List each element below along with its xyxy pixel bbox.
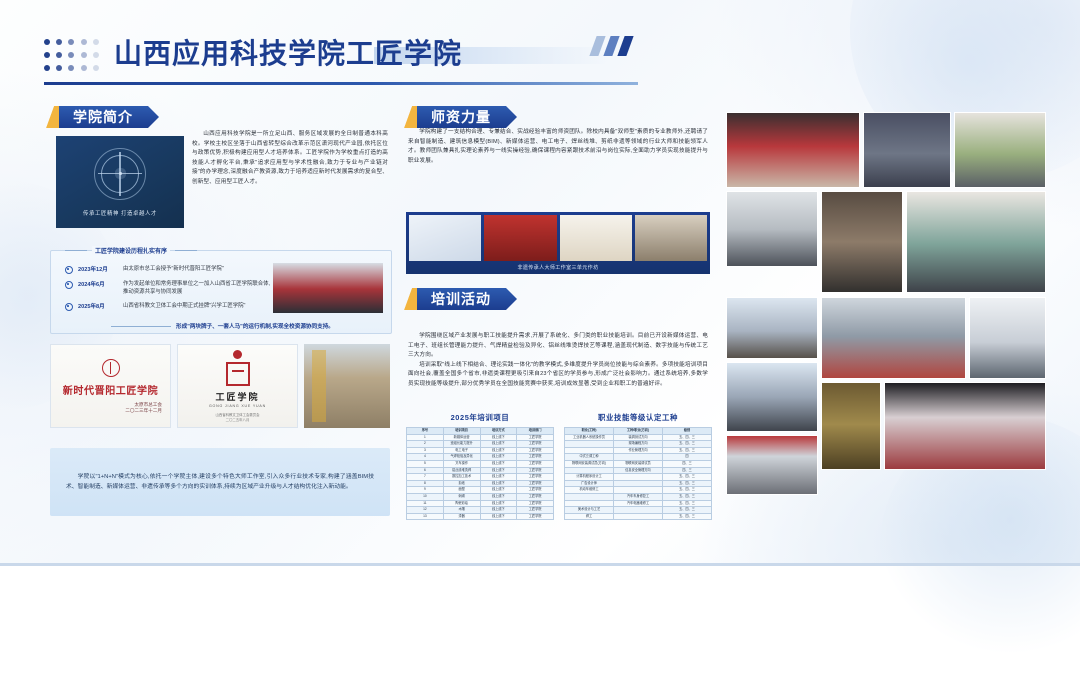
section-label-faculty: 师资力量	[431, 107, 491, 127]
table-cell: 工匠学院	[517, 513, 554, 520]
timeline-desc: 由太原市总工会授予"新时代晋阳工匠学院"	[123, 265, 275, 274]
table-cell: 五、四、三	[663, 487, 712, 494]
table-cell: 四、三	[663, 467, 712, 474]
timeline-item: 2025年8月 山西省科教文卫体工会中期正式挂牌"兴学工匠学院"	[65, 302, 275, 311]
table-row: 10刺绣线上线下工匠学院	[407, 493, 554, 500]
table-cell	[614, 513, 663, 520]
skill-grades-table: 职业(工种)工种/职业(方向)级别 工业机器人系统操作员装调测试方向五、四、三现…	[564, 427, 712, 520]
stage-papercut-performance-photo	[884, 382, 1046, 470]
table-row: 2班组长能力提升线上线下工匠学院	[407, 441, 554, 448]
timeline-dot-icon	[65, 266, 73, 274]
table-cell: 五、四、三	[663, 434, 712, 441]
table-row: 4气焊检验及异化线上线下工匠学院	[407, 454, 554, 461]
table-cell: 气焊检验及异化	[443, 454, 480, 461]
timeline-dot-icon	[65, 303, 73, 311]
timeline-desc: 山西省科教文卫体工会中期正式挂牌"兴学工匠学院"	[123, 302, 275, 311]
table-cell: 线上线下	[480, 460, 517, 467]
table-row: 焊工五、四、三	[565, 513, 712, 520]
table-cell: 新媒体运营	[443, 434, 480, 441]
dot-grid-icon	[44, 39, 102, 75]
table-cell: 线上线下	[480, 467, 517, 474]
group-red-banner-photo	[726, 112, 860, 188]
training-projects-table-wrap: 2025年培训项目 序号培训项目培训方式培训部门 1新媒体运营线上线下工匠学院2…	[406, 412, 554, 530]
table-row: 现场编程方向五、四、三	[565, 441, 712, 448]
timeline-date: 2023年12月	[78, 265, 118, 274]
timeline-date: 2024年6月	[78, 280, 118, 296]
embroidery-artwork-photo	[821, 382, 881, 470]
section-label-training: 培训活动	[431, 289, 491, 309]
faculty-strip-caption: 非遗传承人大师工作室三单元作坊	[409, 264, 707, 271]
table-cell: 五、四、三	[663, 513, 712, 520]
section-label-intro: 学院简介	[73, 107, 133, 127]
table-row: 机动车维修工五、四、三	[565, 487, 712, 494]
ceremony-group-photo	[726, 435, 818, 495]
table-cell: 工匠学院	[517, 447, 554, 454]
timeline-card: 工匠学院建设历程扎实有序 2023年12月 由太原市总工会授予"新时代晋阳工匠学…	[50, 250, 392, 334]
table-cell: 五、四、三	[663, 507, 712, 514]
table-row: 11陶瓷彩绘线上线下工匠学院	[407, 500, 554, 507]
table-cell: 5	[407, 460, 444, 467]
timeline-date: 2025年8月	[78, 302, 118, 311]
table-cell: 五、四、三	[663, 447, 712, 454]
table-cell: 线上线下	[480, 500, 517, 507]
table-row: 13漆器线上线下工匠学院	[407, 513, 554, 520]
table-row: 汽车电器维修工五、四、三	[565, 500, 712, 507]
corridor-visit-photo	[726, 191, 818, 267]
table-cell: 工匠学院	[517, 434, 554, 441]
table-cell: 工匠学院	[517, 460, 554, 467]
table-cell: 12	[407, 507, 444, 514]
plaque-date: 二〇二三年十二月	[125, 408, 162, 414]
table-cell: 9	[407, 487, 444, 494]
red-corridor-photo	[484, 215, 556, 261]
photo-mosaic	[726, 112, 1046, 530]
table-cell: 工匠学院	[517, 441, 554, 448]
slash-accent-icon	[593, 36, 639, 56]
table-cell: 五、四、三	[663, 500, 712, 507]
plaque-date: 二〇二五年八月	[215, 418, 259, 423]
model-summary-box: 学院以"1+N+N"模式为核心,依托一个学院主体,建设多个特色大师工作室,引入众…	[50, 448, 390, 516]
table-column-header: 级别	[663, 428, 712, 435]
intro-paragraph: 山西应用科技学院是一所立足山西、服务区域发展的全日制普通本科高校。学校主校区坐落…	[192, 130, 388, 188]
table-cell: 线上线下	[480, 441, 517, 448]
table-cell: 线上线下	[480, 507, 517, 514]
model-summary-text: 学院以"1+N+N"模式为核心,依托一个学院主体,建设多个特色大师工作室,引入众…	[66, 472, 374, 493]
table-cell	[614, 507, 663, 514]
display-visit-photo	[726, 362, 818, 432]
electrical-lab-photo	[969, 297, 1046, 379]
table-column-header: 工种/职业(方向)	[614, 428, 663, 435]
campus-door-photo	[304, 344, 390, 428]
page-header: 山西应用科技学院工匠学院	[44, 33, 638, 85]
furniture-showroom-photo	[906, 191, 1046, 293]
training-paragraph-1: 学院围绕区域产业发展与职工技能提升需求,开展了系统化、多门类的职业技能培训。目前…	[408, 332, 708, 361]
table-cell: 线上线下	[480, 480, 517, 487]
plaque-jinyang: 新时代晋阳工匠学院 太原市总工会 二〇二三年十二月	[50, 344, 171, 428]
college-emblem-icon	[94, 148, 146, 200]
table-row: 中式烹调工种四	[565, 454, 712, 461]
timeline-list: 2023年12月 由太原市总工会授予"新时代晋阳工匠学院" 2024年6月 作为…	[65, 265, 275, 317]
table-cell: 作业管理方向	[614, 447, 663, 454]
table-cell	[614, 454, 663, 461]
table-cell	[614, 474, 663, 481]
union-seal-icon	[102, 359, 120, 377]
plaque-issuer: 山西省科教文卫体工会委员会	[215, 413, 259, 418]
timeline-footnote-row: 形成"两块牌子、一套人马"的运行机制,实现全校资源协同支持。	[111, 322, 383, 330]
table-cell: 工匠学院	[517, 480, 554, 487]
table-row: 作业管理方向五、四、三	[565, 447, 712, 454]
table-cell	[565, 441, 614, 448]
table-column-header: 职业(工种)	[565, 428, 614, 435]
table-row: 美术设计与工艺五、四、三	[565, 507, 712, 514]
training-projects-table: 序号培训项目培训方式培训部门 1新媒体运营线上线下工匠学院2班组长能力提升线上线…	[406, 427, 554, 520]
table-row: 5叉车操作线上线下工匠学院	[407, 460, 554, 467]
table-cell: 五、四、三	[663, 493, 712, 500]
seal-glyph-icon	[226, 362, 250, 386]
table-cell: 四、三	[663, 460, 712, 467]
table-cell: 线上线下	[480, 447, 517, 454]
timeline-item: 2023年12月 由太原市总工会授予"新时代晋阳工匠学院"	[65, 265, 275, 274]
table-row: 汽车车身修复工五、四、三	[565, 493, 712, 500]
table-header-row: 职业(工种)工种/职业(方向)级别	[565, 428, 712, 435]
plaque-name: 工匠学院	[215, 390, 259, 403]
plaque-pinyin: GONG JIANG XUE YUAN	[209, 404, 266, 408]
table-row: 物联网安装调试员(方向)物联网安装调试员四、三	[565, 460, 712, 467]
table-cell: 工匠学院	[517, 467, 554, 474]
table-cell: 7	[407, 474, 444, 481]
table-cell: 线上线下	[480, 487, 517, 494]
table-cell: 2	[407, 441, 444, 448]
table-left-title: 2025年培训项目	[406, 412, 554, 423]
table-cell: 工匠学院	[517, 507, 554, 514]
table-cell: 工匠学院	[517, 474, 554, 481]
certificate-photo	[409, 215, 481, 261]
training-paragraph-2: 培训采取"线上线下相结合、理论实践一体化"的教学模式,多维度提升学员岗位技能与综…	[408, 361, 708, 390]
training-tables: 2025年培训项目 序号培训项目培训方式培训部门 1新媒体运营线上线下工匠学院2…	[406, 412, 712, 530]
table-cell: 信息安全管理方向	[614, 467, 663, 474]
timeline-item: 2024年6月 作为发起单位和常务理事单位之一加入山西省工匠学院联合体,推动资源…	[65, 280, 275, 296]
plaque-name: 新时代晋阳工匠学院	[63, 382, 158, 397]
equipment-showroom-photo	[954, 112, 1046, 188]
table-cell: 刺绣	[443, 493, 480, 500]
table-cell: 焊工	[565, 513, 614, 520]
table-cell: 电工电子	[443, 447, 480, 454]
emblem-caption: 传承工匠精神 打造卓越人才	[83, 209, 157, 217]
skill-grades-table-wrap: 职业技能等级认定工种 职业(工种)工种/职业(方向)级别 工业机器人系统操作员装…	[564, 412, 712, 530]
table-cell: 木雕	[443, 507, 480, 514]
table-cell: 铝丝线堆烫焊	[443, 467, 480, 474]
table-cell: 8	[407, 480, 444, 487]
timeline-desc: 作为发起单位和常务理事单位之一加入山西省工匠学院联合体,推动资源共享与协同发展	[123, 280, 275, 296]
table-cell: 线上线下	[480, 474, 517, 481]
table-row: 信息安全管理方向四、三	[565, 467, 712, 474]
workshop-interior-photo	[635, 215, 707, 261]
table-cell: 班组长能力提升	[443, 441, 480, 448]
table-cell: 线上线下	[480, 493, 517, 500]
table-cell: 五、四、三	[663, 480, 712, 487]
table-row: 8剪纸线上线下工匠学院	[407, 480, 554, 487]
table-cell: 机动车维修工	[565, 487, 614, 494]
table-cell: 工匠学院	[517, 500, 554, 507]
table-cell	[614, 487, 663, 494]
table-cell: 五、四、三	[663, 474, 712, 481]
table-cell: 工业机器人系统操作员	[565, 434, 614, 441]
table-column-header: 培训方式	[480, 428, 517, 435]
table-cell: 漆器	[443, 513, 480, 520]
table-cell: 工匠学院	[517, 493, 554, 500]
table-cell: 1	[407, 434, 444, 441]
timeline-dot-icon	[65, 281, 73, 289]
table-row: 工业机器人系统操作员装调测试方向五、四、三	[565, 434, 712, 441]
table-column-header: 培训部门	[517, 428, 554, 435]
calligraphy-plaque-photo	[560, 215, 632, 261]
table-cell: 广告设计师	[565, 480, 614, 487]
table-cell: 现场编程方向	[614, 441, 663, 448]
table-cell	[614, 480, 663, 487]
table-cell: 面塑	[443, 487, 480, 494]
table-cell: 陶瓷彩绘	[443, 500, 480, 507]
table-column-header: 序号	[407, 428, 444, 435]
college-emblem-card: 传承工匠精神 打造卓越人才	[56, 136, 184, 228]
table-cell: 10	[407, 493, 444, 500]
table-cell: 线上线下	[480, 434, 517, 441]
exhibit-hall-photo	[821, 191, 903, 293]
plaque-gongjiang: 工匠学院 GONG JIANG XUE YUAN 山西省科教文卫体工会委员会 二…	[177, 344, 298, 428]
table-row: 7数控加工技术线上线下工匠学院	[407, 474, 554, 481]
table-row: 广告设计师五、四、三	[565, 480, 712, 487]
table-column-header: 培训项目	[443, 428, 480, 435]
header-rule	[44, 82, 638, 85]
timeline-ceremony-photo	[273, 263, 383, 313]
table-cell	[565, 447, 614, 454]
table-cell: 工匠学院	[517, 487, 554, 494]
table-cell: 中式烹调工种	[565, 454, 614, 461]
table-cell: 计算机程序设计工	[565, 474, 614, 481]
table-cell: 物联网安装调试员	[614, 460, 663, 467]
faculty-photo-strip: 非遗传承人大师工作室三单元作坊	[406, 212, 710, 274]
table-header-row: 序号培训项目培训方式培训部门	[407, 428, 554, 435]
table-cell: 线上线下	[480, 454, 517, 461]
table-cell: 线上线下	[480, 513, 517, 520]
table-cell: 3	[407, 447, 444, 454]
table-cell	[565, 500, 614, 507]
table-cell: 汽车车身修复工	[614, 493, 663, 500]
timeline-title: 工匠学院建设历程扎实有序	[92, 246, 170, 255]
table-cell: 四	[663, 454, 712, 461]
lecture-demo-photo	[726, 297, 818, 359]
table-cell: 汽车电器维修工	[614, 500, 663, 507]
red-seal-icon	[233, 350, 242, 359]
table-cell: 装调测试方向	[614, 434, 663, 441]
table-cell: 美术设计与工艺	[565, 507, 614, 514]
timeline-footnote: 形成"两块牌子、一套人马"的运行机制,实现全校资源协同支持。	[176, 322, 334, 330]
table-cell: 11	[407, 500, 444, 507]
table-cell: 工匠学院	[517, 454, 554, 461]
table-cell	[565, 493, 614, 500]
training-paragraphs: 学院围绕区域产业发展与职工技能提升需求,开展了系统化、多门类的职业技能培训。目前…	[408, 332, 708, 390]
table-cell: 13	[407, 513, 444, 520]
table-cell	[565, 467, 614, 474]
faculty-paragraph: 学院构建了一支结构合理、专兼结合、实战经验丰富的师资团队。除校内具备"双师型"素…	[408, 128, 708, 166]
table-cell: 6	[407, 467, 444, 474]
table-cell: 剪纸	[443, 480, 480, 487]
plaque-photo-row: 新时代晋阳工匠学院 太原市总工会 二〇二三年十二月 工匠学院 GONG JIAN…	[50, 344, 390, 428]
table-row: 6铝丝线堆烫焊线上线下工匠学院	[407, 467, 554, 474]
table-right-title: 职业技能等级认定工种	[564, 412, 712, 423]
table-cell: 物联网安装调试员(方向)	[565, 460, 614, 467]
poster-page: 山西应用科技学院工匠学院 学院简介 传承工匠精神 打造卓越人才 山西应用科技学院…	[0, 0, 1080, 566]
table-cell: 4	[407, 454, 444, 461]
classroom-screen-photo	[863, 112, 951, 188]
timeline-title-row: 工匠学院建设历程扎实有序	[65, 246, 197, 255]
table-row: 计算机程序设计工五、四、三	[565, 474, 712, 481]
table-row: 3电工电子线上线下工匠学院	[407, 447, 554, 454]
table-row: 9面塑线上线下工匠学院	[407, 487, 554, 494]
table-row: 12木雕线上线下工匠学院	[407, 507, 554, 514]
campus-large-group-photo	[821, 297, 966, 379]
table-cell: 叉车操作	[443, 460, 480, 467]
table-cell: 数控加工技术	[443, 474, 480, 481]
table-row: 1新媒体运营线上线下工匠学院	[407, 434, 554, 441]
page-title: 山西应用科技学院工匠学院	[114, 32, 462, 72]
table-cell: 五、四、三	[663, 441, 712, 448]
